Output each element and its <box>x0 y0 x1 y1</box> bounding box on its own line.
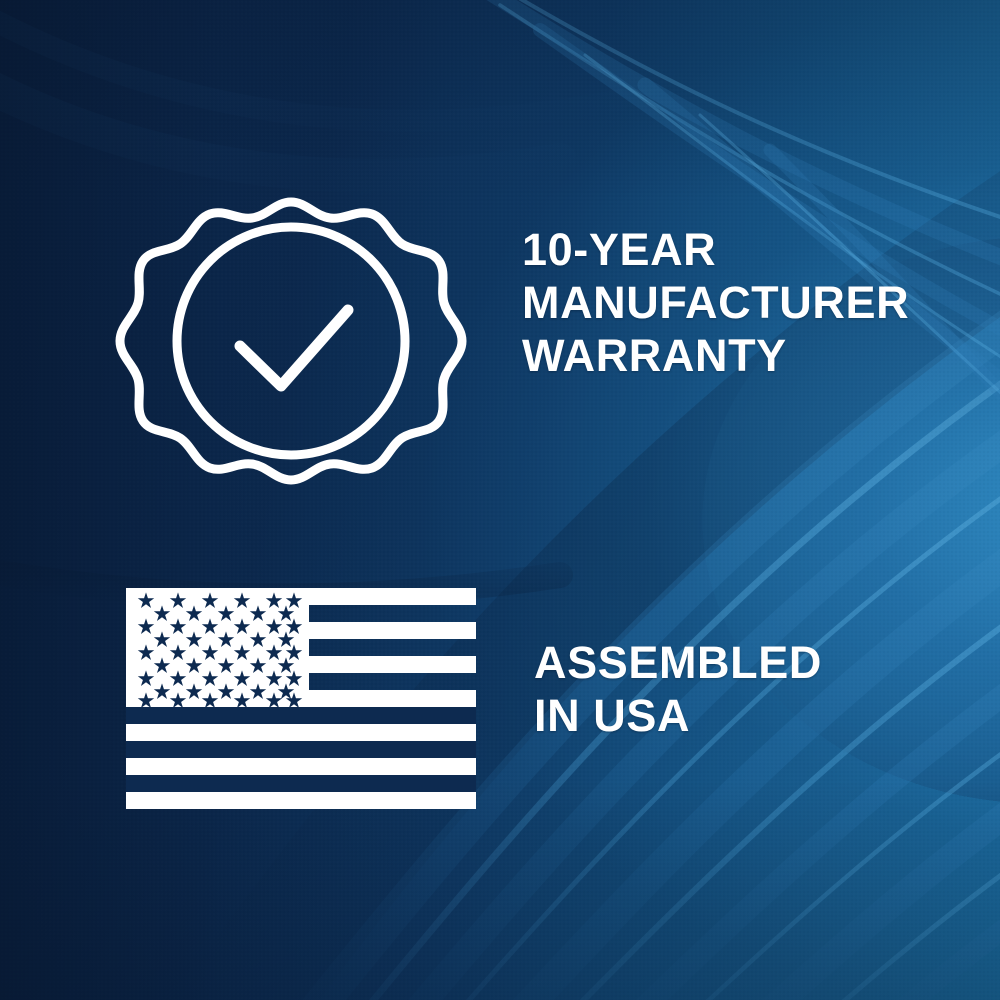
warranty-seal-icon <box>120 170 462 512</box>
assembled-usa-headline-text: ASSEMBLED IN USA <box>534 636 964 742</box>
flag-canton <box>126 588 309 707</box>
warranty-headline: 10-YEAR MANUFACTURER WARRANTY <box>522 223 952 382</box>
assembled-usa-badge-block: ASSEMBLED IN USA <box>0 560 1000 860</box>
assembled-usa-headline: ASSEMBLED IN USA <box>534 636 964 742</box>
warranty-headline-text: 10-YEAR MANUFACTURER WARRANTY <box>522 223 952 382</box>
graphic-canvas: 10-YEAR MANUFACTURER WARRANTY <box>0 0 1000 1000</box>
usa-flag-icon <box>126 588 476 809</box>
warranty-badge-block: 10-YEAR MANUFACTURER WARRANTY <box>0 150 1000 550</box>
